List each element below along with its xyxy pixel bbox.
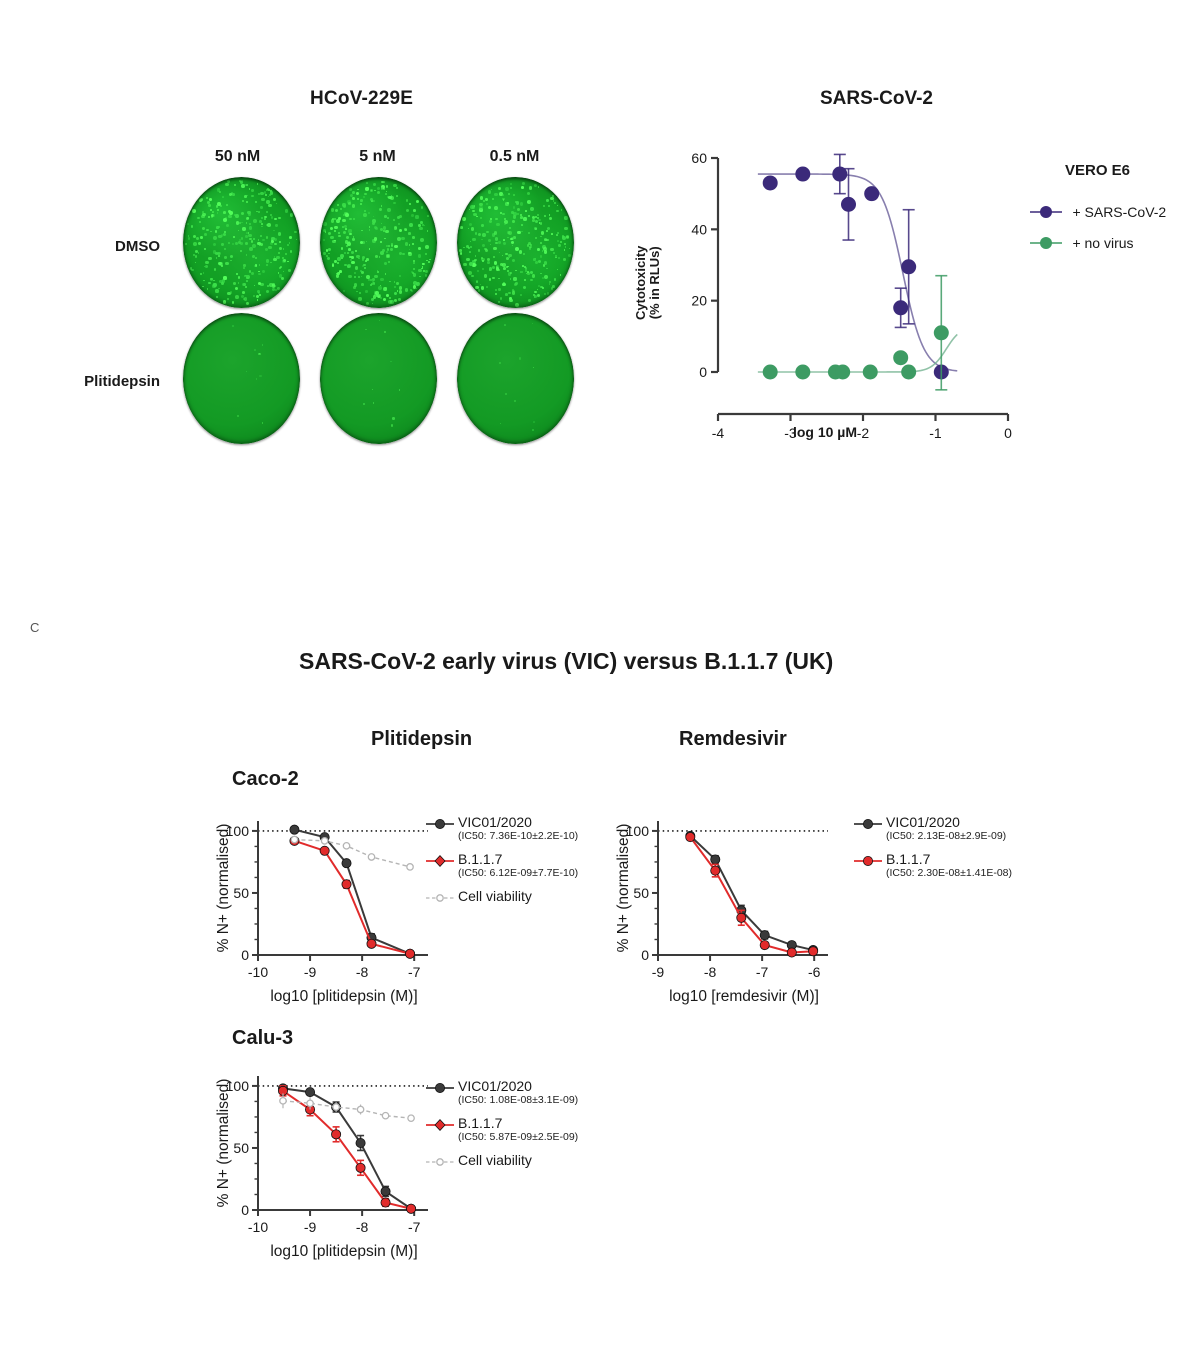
calu3-legend-marker-2 [424, 1152, 458, 1155]
data-point [280, 1098, 286, 1104]
caco2-plitidepsin-x-ticklabel-3: -7 [408, 964, 421, 980]
remdesivir-ylabel: % N+ (normalised) [615, 824, 632, 953]
cell-header-calu3: Calu-3 [232, 1027, 293, 1050]
calu3-legend-text-1: B.1.1.7(IC50: 5.87E-09±2.5E-09) [458, 1115, 578, 1143]
calu3-legend: VIC01/2020(IC50: 1.08E-08±3.1E-09)B.1.1.… [424, 1078, 578, 1170]
remdesivir-legend-sublabel-0: (IC50: 2.13E-08±2.9E-09) [886, 830, 1006, 842]
calu3-legend-marker-1 [424, 1115, 458, 1118]
sars-plot-ylabel: Cytotoxicity (% in RLUs) [634, 246, 662, 320]
data-point [333, 1104, 339, 1110]
legend-marker-open [437, 895, 443, 901]
caco2-plitidepsin-ylabel: % N+ (normalised) [215, 824, 232, 953]
legend-marker-diamond [435, 1120, 445, 1131]
caco2-legend-label-1: B.1.1.7 [458, 851, 578, 867]
sars-legend-item-1: + no virus [1030, 234, 1134, 252]
caco2-legend-marker-icon-0 [424, 817, 458, 831]
remdesivir-x-ticklabel-1: -8 [704, 964, 717, 980]
remdesivir-legend-sublabel-1: (IC50: 2.30E-08±1.41E-08) [886, 867, 1012, 879]
calu3-plitidepsin-y-ticklabel-0: 0 [241, 1202, 249, 1218]
row-label-dmso: DMSO [40, 238, 160, 255]
caco2-legend-marker-1 [424, 851, 458, 854]
data-point [342, 880, 351, 889]
caco2-plitidepsin-y-ticklabel-0: 0 [241, 947, 249, 963]
data-point [357, 1106, 363, 1112]
drug-header-remdesivir: Remdesivir [679, 728, 787, 751]
data-point [863, 365, 878, 380]
well-dmso-50nm [183, 177, 300, 308]
sars-x-ticklabel-0: -4 [712, 425, 725, 441]
data-point [407, 864, 413, 870]
data-point [305, 1088, 314, 1097]
remdesivir-legend-text-1: B.1.1.7(IC50: 2.30E-08±1.41E-08) [886, 851, 1012, 879]
data-point [307, 1100, 313, 1106]
dose-label-50nm: 50 nM [180, 148, 295, 166]
calu3-legend-marker-0 [424, 1078, 458, 1081]
calu3-plitidepsin-series-b-1-1-7 [278, 1086, 415, 1213]
data-point [795, 167, 810, 182]
legend-marker-circle [435, 1083, 444, 1092]
caco2-legend-label-0: VIC01/2020 [458, 814, 578, 830]
calu3-legend-sublabel-0: (IC50: 1.08E-08±3.1E-09) [458, 1094, 578, 1106]
remdesivir-legend-marker-icon-1 [852, 854, 886, 868]
calu3-plitidepsin-x-ticklabel-0: -10 [248, 1219, 268, 1235]
calu3-legend-label-1: B.1.1.7 [458, 1115, 578, 1131]
remdesivir-legend-item-1: B.1.1.7(IC50: 2.30E-08±1.41E-08) [852, 851, 1012, 879]
caco2-legend: VIC01/2020(IC50: 7.36E-10±2.2E-10)B.1.1.… [424, 814, 578, 906]
remdesivir-legend-marker-1 [852, 851, 886, 854]
legend-marker-no-virus [1030, 235, 1062, 251]
sars-legend-label-0: + SARS-CoV-2 [1072, 204, 1166, 220]
well-plitidepsin-50nm [183, 313, 300, 444]
caco2-plitidepsin-series-b-1-1-7 [290, 836, 415, 958]
data-point [737, 913, 746, 922]
remdesivir-legend-marker-0 [852, 814, 886, 817]
remdesivir-x-ticklabel-0: -9 [652, 964, 665, 980]
caco2-legend-text-0: VIC01/2020(IC50: 7.36E-10±2.2E-10) [458, 814, 578, 842]
remdesivir-legend-marker-icon-0 [852, 817, 886, 831]
remdesivir-y-ticklabel-1: 50 [633, 885, 649, 901]
data-point [405, 949, 414, 958]
caco2-legend-item-2: Cell viability [424, 888, 578, 904]
remdesivir-xlabel: log10 [remdesivir (M)] [669, 988, 819, 1005]
series-line [294, 840, 410, 867]
data-point [934, 325, 949, 340]
data-point [343, 843, 349, 849]
calu3-legend-text-2: Cell viability [458, 1152, 532, 1168]
well-background [320, 313, 437, 444]
data-point [711, 866, 720, 875]
well-background [183, 313, 300, 444]
calu3-legend-marker-icon-1 [424, 1118, 458, 1132]
legend-marker-diamond [435, 856, 445, 867]
plate-and-cytotoxicity-panel: HCoV-229E 50 nM 5 nM 0.5 nM DMSO Plitide… [0, 0, 1200, 470]
calu3-plitidepsin-x-ticklabel-1: -9 [304, 1219, 317, 1235]
well-dmso-0-5nm [457, 177, 574, 308]
legend-marker-circle [863, 856, 872, 865]
remdesivir-chart: 050100-9-8-7-6log10 [remdesivir (M)]% N+… [610, 805, 870, 1020]
remdesivir-x-ticklabel-2: -7 [756, 964, 769, 980]
sars-ylabel-line1: Cytotoxicity [634, 246, 648, 320]
calu3-legend-sublabel-1: (IC50: 5.87E-09±2.5E-09) [458, 1131, 578, 1143]
caco2-legend-item-0: VIC01/2020(IC50: 7.36E-10±2.2E-10) [424, 814, 578, 842]
data-point [408, 1115, 414, 1121]
legend-marker-sars-cov-2 [1030, 204, 1062, 220]
data-point [381, 1198, 390, 1207]
caco2-plitidepsin-x-ticklabel-2: -8 [356, 964, 369, 980]
caco2-legend-marker-icon-1 [424, 854, 458, 868]
data-point [368, 854, 374, 860]
sars-y-ticklabel-0: 0 [699, 364, 707, 380]
caco2-legend-text-1: B.1.1.7(IC50: 6.12E-09±7.7E-10) [458, 851, 578, 879]
caco2-legend-sublabel-0: (IC50: 7.36E-10±2.2E-10) [458, 830, 578, 842]
calu3-legend-label-2: Cell viability [458, 1152, 532, 1168]
data-point [841, 197, 856, 212]
data-point [893, 300, 908, 315]
data-point [342, 859, 351, 868]
caco2-legend-sublabel-1: (IC50: 6.12E-09±7.7E-10) [458, 867, 578, 879]
sars-y-ticklabel-3: 60 [691, 150, 707, 166]
data-point [809, 947, 818, 956]
legend-marker-circle [863, 819, 872, 828]
remdesivir-legend-label-0: VIC01/2020 [886, 814, 1006, 830]
remdesivir-legend-item-0: VIC01/2020(IC50: 2.13E-08±2.9E-09) [852, 814, 1012, 842]
well-dmso-5nm [320, 177, 437, 308]
calu3-plitidepsin-x-ticklabel-3: -7 [408, 1219, 421, 1235]
calu3-plitidepsin-ylabel: % N+ (normalised) [215, 1079, 232, 1208]
data-point [901, 365, 916, 380]
data-point [893, 350, 908, 365]
panel-c-title: SARS-CoV-2 early virus (VIC) versus B.1.… [299, 648, 833, 675]
remdesivir-series-vic01-2020 [686, 831, 818, 954]
well-plitidepsin-0-5nm [457, 313, 574, 444]
caco2-legend-marker-0 [424, 814, 458, 817]
calu3-plitidepsin-xlabel: log10 [plitidepsin (M)] [270, 1243, 417, 1260]
row-label-plitidepsin: Plitidepsin [30, 373, 160, 390]
data-point [291, 836, 297, 842]
calu3-legend-item-2: Cell viability [424, 1152, 578, 1168]
remdesivir-x-ticklabel-3: -6 [808, 964, 821, 980]
data-point [320, 846, 329, 855]
data-point [290, 825, 299, 834]
data-point [356, 1163, 365, 1172]
data-point [382, 1113, 388, 1119]
calu3-plitidepsin-y-ticklabel-1: 50 [233, 1140, 249, 1156]
data-point [901, 259, 916, 274]
well-background [457, 313, 574, 444]
data-point [835, 365, 850, 380]
series-line [294, 841, 410, 954]
caco2-legend-marker-2 [424, 888, 458, 891]
data-point [381, 1187, 390, 1196]
data-point [763, 365, 778, 380]
plate-panel-title: HCoV-229E [310, 88, 413, 110]
remdesivir-legend: VIC01/2020(IC50: 2.13E-08±2.9E-09)B.1.1.… [852, 814, 1012, 888]
calu3-legend-label-0: VIC01/2020 [458, 1078, 578, 1094]
caco2-legend-text-2: Cell viability [458, 888, 532, 904]
well-plitidepsin-5nm [320, 313, 437, 444]
data-point [787, 948, 796, 957]
calu3-plitidepsin-x-ticklabel-2: -8 [356, 1219, 369, 1235]
caco2-legend-marker-icon-2 [424, 891, 458, 905]
data-point [864, 186, 879, 201]
calu3-plitidepsin-series-cell-viability [280, 1093, 414, 1121]
drug-header-plitidepsin: Plitidepsin [371, 728, 472, 751]
calu3-legend-item-0: VIC01/2020(IC50: 1.08E-08±3.1E-09) [424, 1078, 578, 1106]
sars-plot-canvas: 0204060-4-3-2-10 [660, 140, 1040, 440]
data-point [321, 838, 327, 844]
remdesivir-legend-label-1: B.1.1.7 [886, 851, 1012, 867]
caco2-plitidepsin-series-cell-viability [291, 836, 413, 870]
data-point [760, 940, 769, 949]
series-line [690, 836, 813, 950]
data-point [760, 931, 769, 940]
panel-c-letter: C [30, 620, 39, 635]
sars-legend-item-0: + SARS-CoV-2 [1030, 203, 1166, 221]
data-point [763, 175, 778, 190]
caco2-plitidepsin-x-ticklabel-0: -10 [248, 964, 268, 980]
data-point [331, 1130, 340, 1139]
data-point [686, 833, 695, 842]
caco2-plitidepsin-y-ticklabel-1: 50 [233, 885, 249, 901]
data-point [356, 1138, 365, 1147]
legend-marker-open [437, 1159, 443, 1165]
sars-y-ticklabel-2: 40 [691, 221, 707, 237]
caco2-plitidepsin-xlabel: log10 [plitidepsin (M)] [270, 988, 417, 1005]
sars-fit-curve-purple [758, 174, 957, 371]
legend-marker-circle [435, 819, 444, 828]
data-point [406, 1204, 415, 1213]
sars-series-sars-cov-2 [763, 154, 949, 379]
remdesivir-legend-text-0: VIC01/2020(IC50: 2.13E-08±2.9E-09) [886, 814, 1006, 842]
caco2-plitidepsin-x-ticklabel-1: -9 [304, 964, 317, 980]
dose-label-5nm: 5 nM [320, 148, 435, 166]
caco2-legend-item-1: B.1.1.7(IC50: 6.12E-09±7.7E-10) [424, 851, 578, 879]
calu3-legend-marker-icon-2 [424, 1155, 458, 1169]
calu3-legend-text-0: VIC01/2020(IC50: 1.08E-08±3.1E-09) [458, 1078, 578, 1106]
cell-header-caco2: Caco-2 [232, 768, 299, 791]
calu3-legend-item-1: B.1.1.7(IC50: 5.87E-09±2.5E-09) [424, 1115, 578, 1143]
data-point [367, 939, 376, 948]
data-point [795, 365, 810, 380]
sars-y-ticklabel-1: 20 [691, 293, 707, 309]
sars-legend-label-1: + no virus [1072, 235, 1133, 251]
sars-legend-title: VERO E6 [1065, 162, 1130, 179]
sars-plot-xlabel: log 10 µM [735, 424, 915, 440]
dose-label-0-5nm: 0.5 nM [457, 148, 572, 166]
sars-x-ticklabel-4: 0 [1004, 425, 1012, 441]
caco2-legend-label-2: Cell viability [458, 888, 532, 904]
data-point [711, 855, 720, 864]
calu3-legend-marker-icon-0 [424, 1081, 458, 1095]
remdesivir-y-ticklabel-0: 0 [641, 947, 649, 963]
sars-x-ticklabel-3: -1 [929, 425, 942, 441]
sars-plot-title: SARS-CoV-2 [820, 88, 933, 110]
